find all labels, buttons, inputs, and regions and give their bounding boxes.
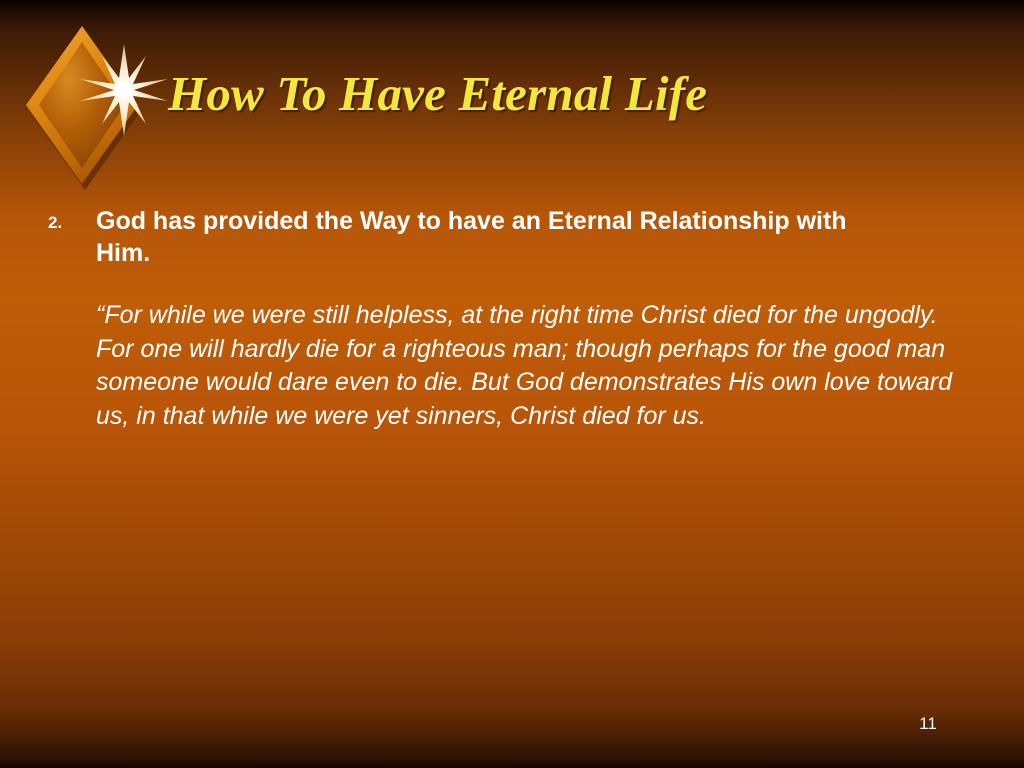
point-row: 2. God has provided the Way to have an E… — [48, 205, 978, 269]
page-number: 11 — [908, 714, 948, 734]
point-text: God has provided the Way to have an Eter… — [96, 205, 856, 269]
slide-body: 2. God has provided the Way to have an E… — [48, 205, 978, 433]
slide: How To Have Eternal Life 2. God has prov… — [0, 0, 1024, 768]
starburst-icon — [76, 42, 172, 138]
scripture-quote: “For while we were still helpless, at th… — [96, 299, 966, 433]
point-number: 2. — [48, 205, 96, 231]
page-title: How To Have Eternal Life — [168, 68, 928, 119]
logo — [18, 18, 178, 198]
